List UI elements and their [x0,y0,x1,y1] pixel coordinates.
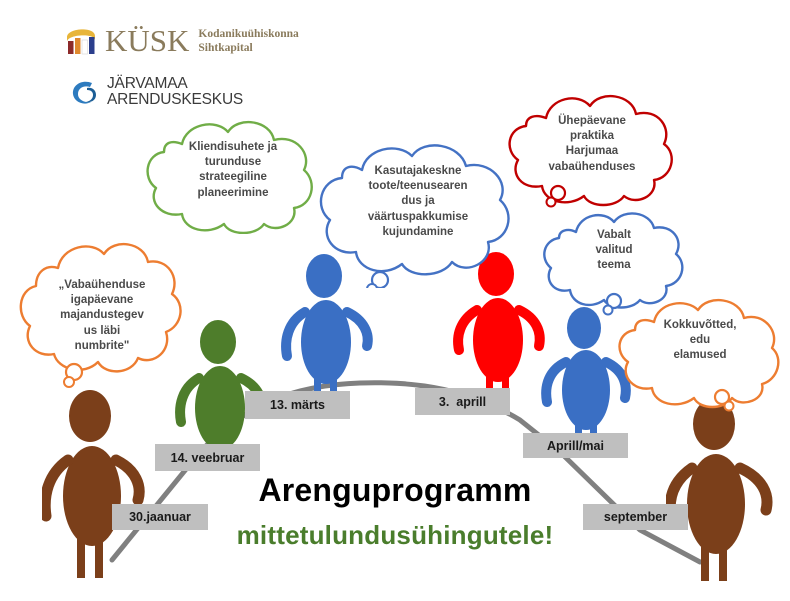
thought-bubble-kasutajakeskne: Kasutajakeskne toote/teenusearen dus ja … [318,136,518,288]
infographic-canvas: „Vabaühenduse igapäevane majandustegev u… [0,0,790,601]
kusk-bar-chart-icon [64,24,98,56]
page-title-sub: mittetulundusühingutele! [0,520,790,551]
kusk-logo: KÜSK Kodanikuühiskonna Sihtkapital [64,24,299,56]
kusk-subtitle-line2: Sihtkapital [198,41,298,55]
bubble-text: „Vabaühenduse igapäevane majandustegev u… [34,278,170,354]
bubble-text: Kliendisuhete ja turunduse strateegiline… [164,140,302,201]
jarvamaa-logo: JÄRVAMAA ARENDUSKESKUS [70,76,243,108]
thought-bubble-kliendisuhete: Kliendisuhete ja turunduse strateegiline… [142,112,322,234]
thought-bubble-kokkuvotted: Kokkuvõtted, edu elamused [616,294,784,412]
thought-bubble-vabauhenduse: „Vabaühenduse igapäevane majandustegev u… [14,232,189,392]
jarvamaa-wordmark-line1: JÄRVAMAA [107,76,243,92]
bubble-text: Kasutajakeskne toote/teenusearen dus ja … [342,164,494,240]
bubble-text: Ühepäevane praktika Harjumaa vabaühendus… [524,114,660,175]
bubble-text: Vabalt valitud teema [568,228,660,274]
milestone-aprill[interactable]: 3. aprill [415,388,510,415]
jarvamaa-wordmark-line2: ARENDUSKESKUS [107,92,243,108]
page-title-main: Arenguprogramm [0,472,790,509]
jarvamaa-wordmark: JÄRVAMAA ARENDUSKESKUS [107,76,243,108]
jarvamaa-swirl-icon [70,77,100,107]
kusk-subtitle: Kodanikuühiskonna Sihtkapital [198,27,298,56]
milestone-aprill-mai[interactable]: Aprill/mai [523,433,628,458]
kusk-subtitle-line1: Kodanikuühiskonna [198,27,298,41]
milestone-marts[interactable]: 13. märts [245,391,350,419]
milestone-veebruar[interactable]: 14. veebruar [155,444,260,471]
kusk-wordmark: KÜSK [105,25,189,56]
thought-bubble-uhepaevane: Ühepäevane praktika Harjumaa vabaühendus… [506,88,678,208]
bubble-text: Kokkuvõtted, edu elamused [640,318,760,364]
